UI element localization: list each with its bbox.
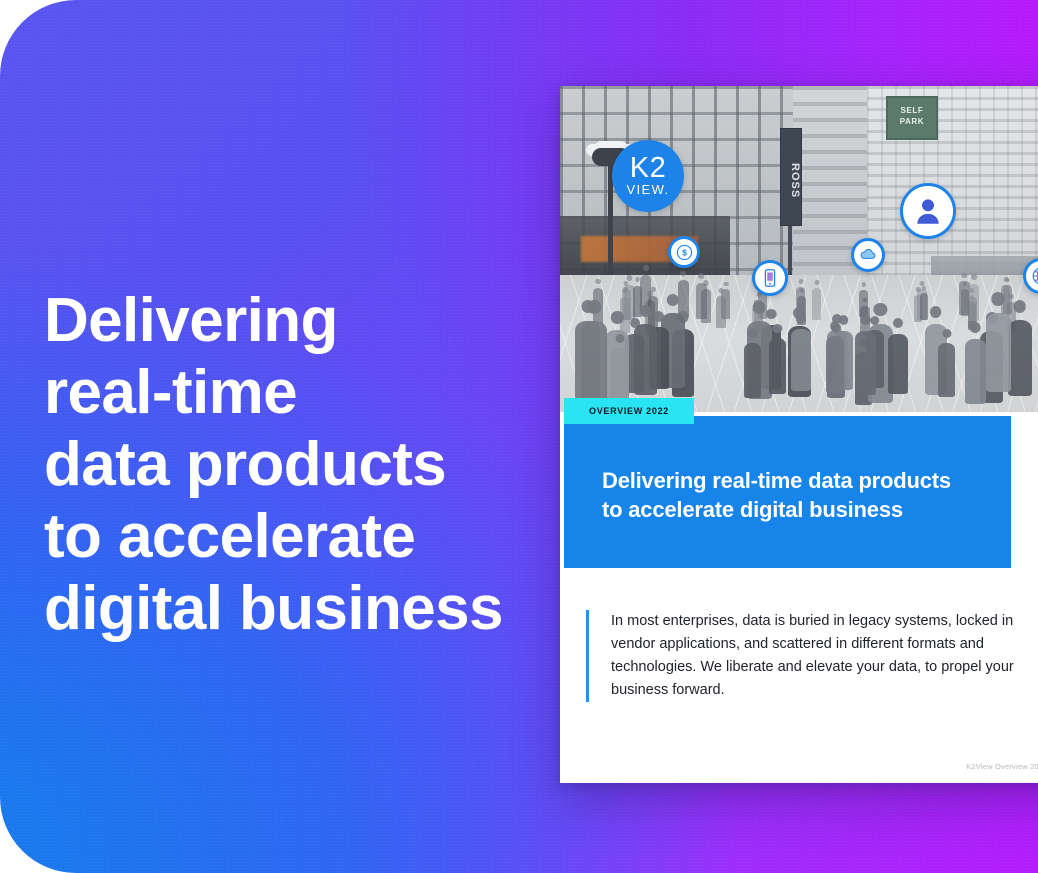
crowd-figure (634, 324, 657, 396)
crowd-figure (791, 329, 811, 390)
logo-mark-text: K2 (630, 155, 666, 182)
user-profile-icon (911, 194, 945, 228)
crowd-figure (581, 321, 607, 402)
document-footer: K2View Overview 2022 1 (966, 762, 1038, 771)
document-body: In most enterprises, data is buried in l… (586, 610, 1038, 702)
mobile-badge (752, 260, 788, 296)
document-title: Delivering real-time data products to ac… (602, 466, 1011, 524)
crowd-figure (961, 289, 969, 316)
crowd-figure (1008, 320, 1032, 396)
cloud-badge (851, 238, 885, 272)
photo-crowd (560, 256, 1038, 406)
svg-text:$: $ (682, 247, 687, 257)
crowd-figure (611, 348, 628, 402)
self-park-sign: SELF PARK (886, 96, 938, 140)
smartphone-icon (759, 267, 781, 289)
footer-source: K2View Overview 2022 (966, 762, 1038, 771)
crowd-figure (769, 338, 787, 393)
k2view-logo: K2 VIEW. (612, 140, 684, 212)
crowd-figure (855, 331, 875, 395)
document-preview-card[interactable]: SELF PARK ROSS K2 VIEW. $ OVERVIEW 2022 … (560, 86, 1038, 783)
ross-sign: ROSS (780, 128, 802, 226)
crowd-figure (968, 284, 979, 321)
document-body-text: In most enterprises, data is buried in l… (611, 610, 1038, 702)
crowd-figure (920, 293, 928, 320)
globe-icon (1030, 265, 1038, 287)
hero-banner: Delivering real-time data products to ac… (0, 0, 1038, 873)
crowd-figure (986, 313, 1011, 392)
crowd-figure (859, 290, 867, 318)
cloud-icon (858, 245, 878, 265)
crowd-figure (716, 296, 726, 328)
crowd-figure (696, 283, 707, 320)
document-title-band: Delivering real-time data products to ac… (564, 416, 1011, 568)
person-badge (900, 183, 956, 239)
document-hero-photo: SELF PARK ROSS K2 VIEW. $ (560, 86, 1038, 412)
overview-tag: OVERVIEW 2022 (564, 398, 694, 424)
logo-wordmark-text: VIEW. (626, 183, 669, 197)
page-title: Delivering real-time data products to ac… (44, 285, 564, 645)
crowd-figure (938, 343, 955, 397)
currency-badge: $ (668, 236, 700, 268)
crowd-figure (744, 343, 762, 398)
crowd-figure (812, 288, 821, 320)
crowd-figure (622, 289, 631, 320)
crowd-figure (965, 339, 986, 404)
crowd-figure (888, 334, 907, 394)
dollar-icon: $ (675, 243, 694, 262)
crowd-figure (826, 336, 844, 393)
